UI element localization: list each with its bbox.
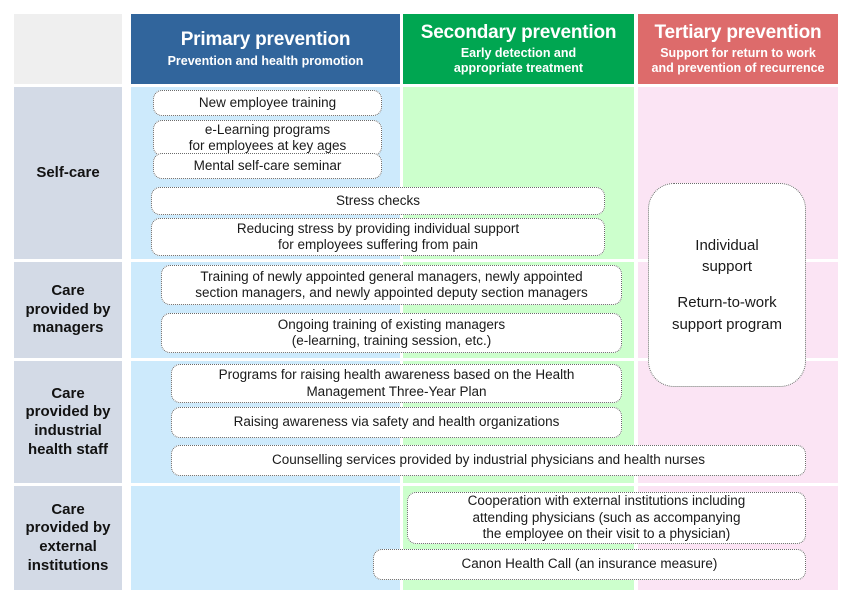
- item-text-line2: support: [702, 256, 752, 278]
- header-tertiary-prevention: Tertiary prevention Support for return t…: [638, 14, 838, 84]
- header-primary-prevention: Primary prevention Prevention and health…: [131, 14, 400, 84]
- item-programs-health-awareness[interactable]: Programs for raising health awareness ba…: [171, 364, 622, 403]
- header-secondary-title: Secondary prevention: [421, 22, 617, 44]
- item-text: New employee training: [199, 95, 336, 111]
- item-text-line2: for employees suffering from pain: [278, 237, 478, 253]
- row-label-managers-line2: provided by: [25, 301, 110, 320]
- item-text-line4: support program: [672, 314, 782, 336]
- header-primary-title: Primary prevention: [181, 29, 351, 51]
- header-secondary-prevention: Secondary prevention Early detection and…: [403, 14, 634, 84]
- row-label-external-institutions: Care provided by external institutions: [14, 486, 122, 590]
- item-text-line1: Ongoing training of existing managers: [278, 317, 505, 333]
- item-text-line3: Return-to-work: [677, 292, 776, 314]
- item-text: Mental self-care seminar: [194, 158, 342, 174]
- item-text-line1: e-Learning programs: [205, 122, 330, 138]
- header-tertiary-subtitle-line2: and prevention of recurrence: [652, 61, 825, 76]
- item-elearning-programs[interactable]: e-Learning programs for employees at key…: [153, 120, 382, 156]
- item-text: Stress checks: [336, 193, 420, 209]
- header-secondary-subtitle-line1: Early detection and: [461, 46, 576, 61]
- item-text-line2: (e-learning, training session, etc.): [292, 333, 492, 349]
- row-label-external-line1: Care: [51, 501, 84, 520]
- header-primary-subtitle: Prevention and health promotion: [168, 54, 364, 69]
- item-text-line2: Management Three-Year Plan: [306, 384, 486, 400]
- item-text-line1: Reducing stress by providing individual …: [237, 221, 519, 237]
- item-text: Counselling services provided by industr…: [272, 452, 705, 468]
- item-text-line1: Programs for raising health awareness ba…: [219, 367, 575, 383]
- header-tertiary-subtitle-line1: Support for return to work: [660, 46, 816, 61]
- item-raising-awareness-safety-health[interactable]: Raising awareness via safety and health …: [171, 407, 622, 438]
- item-text-line1: Individual: [695, 235, 758, 257]
- item-new-employee-training[interactable]: New employee training: [153, 90, 382, 116]
- item-ongoing-training-existing-managers[interactable]: Ongoing training of existing managers (e…: [161, 313, 622, 353]
- item-text-line2: for employees at key ages: [189, 138, 347, 154]
- item-text-line2: section managers, and newly appointed de…: [195, 285, 588, 301]
- item-text-line2: attending physicians (such as accompanyi…: [473, 510, 741, 526]
- row-label-external-line3: external: [39, 538, 97, 557]
- header-secondary-subtitle-line2: appropriate treatment: [454, 61, 583, 76]
- row-label-industrial-health-staff: Care provided by industrial health staff: [14, 361, 122, 483]
- item-text: Canon Health Call (an insurance measure): [462, 556, 718, 572]
- row-label-self-care: Self-care: [14, 87, 122, 259]
- prevention-matrix: Primary prevention Prevention and health…: [0, 0, 852, 596]
- item-text-line3: the employee on their visit to a physici…: [483, 526, 731, 542]
- row-label-self-care-text: Self-care: [36, 164, 99, 183]
- item-counselling-services[interactable]: Counselling services provided by industr…: [171, 445, 806, 476]
- item-text-line1: Cooperation with external institutions i…: [468, 493, 746, 509]
- item-text: Raising awareness via safety and health …: [234, 414, 560, 430]
- row-label-external-line2: provided by: [25, 519, 110, 538]
- row-label-external-line4: institutions: [28, 557, 109, 576]
- header-tertiary-title: Tertiary prevention: [655, 22, 822, 44]
- band-external-primary: [131, 486, 400, 590]
- row-label-industrial-line4: health staff: [28, 441, 108, 460]
- row-label-managers-line3: managers: [33, 319, 104, 338]
- item-reducing-stress[interactable]: Reducing stress by providing individual …: [151, 218, 605, 256]
- header-blank-cell: [14, 14, 122, 84]
- item-cooperation-external-institutions[interactable]: Cooperation with external institutions i…: [407, 492, 806, 544]
- item-individual-support-return-to-work[interactable]: Individual support Return-to-work suppor…: [648, 183, 806, 387]
- item-training-newly-appointed-managers[interactable]: Training of newly appointed general mana…: [161, 265, 622, 305]
- row-label-industrial-line3: industrial: [34, 422, 102, 441]
- row-label-managers-line1: Care: [51, 282, 84, 301]
- item-text-line1: Training of newly appointed general mana…: [200, 269, 582, 285]
- row-label-industrial-line2: provided by: [25, 403, 110, 422]
- item-stress-checks[interactable]: Stress checks: [151, 187, 605, 215]
- item-canon-health-call[interactable]: Canon Health Call (an insurance measure): [373, 549, 806, 580]
- item-mental-self-care-seminar[interactable]: Mental self-care seminar: [153, 153, 382, 179]
- row-label-managers: Care provided by managers: [14, 262, 122, 358]
- row-label-industrial-line1: Care: [51, 385, 84, 404]
